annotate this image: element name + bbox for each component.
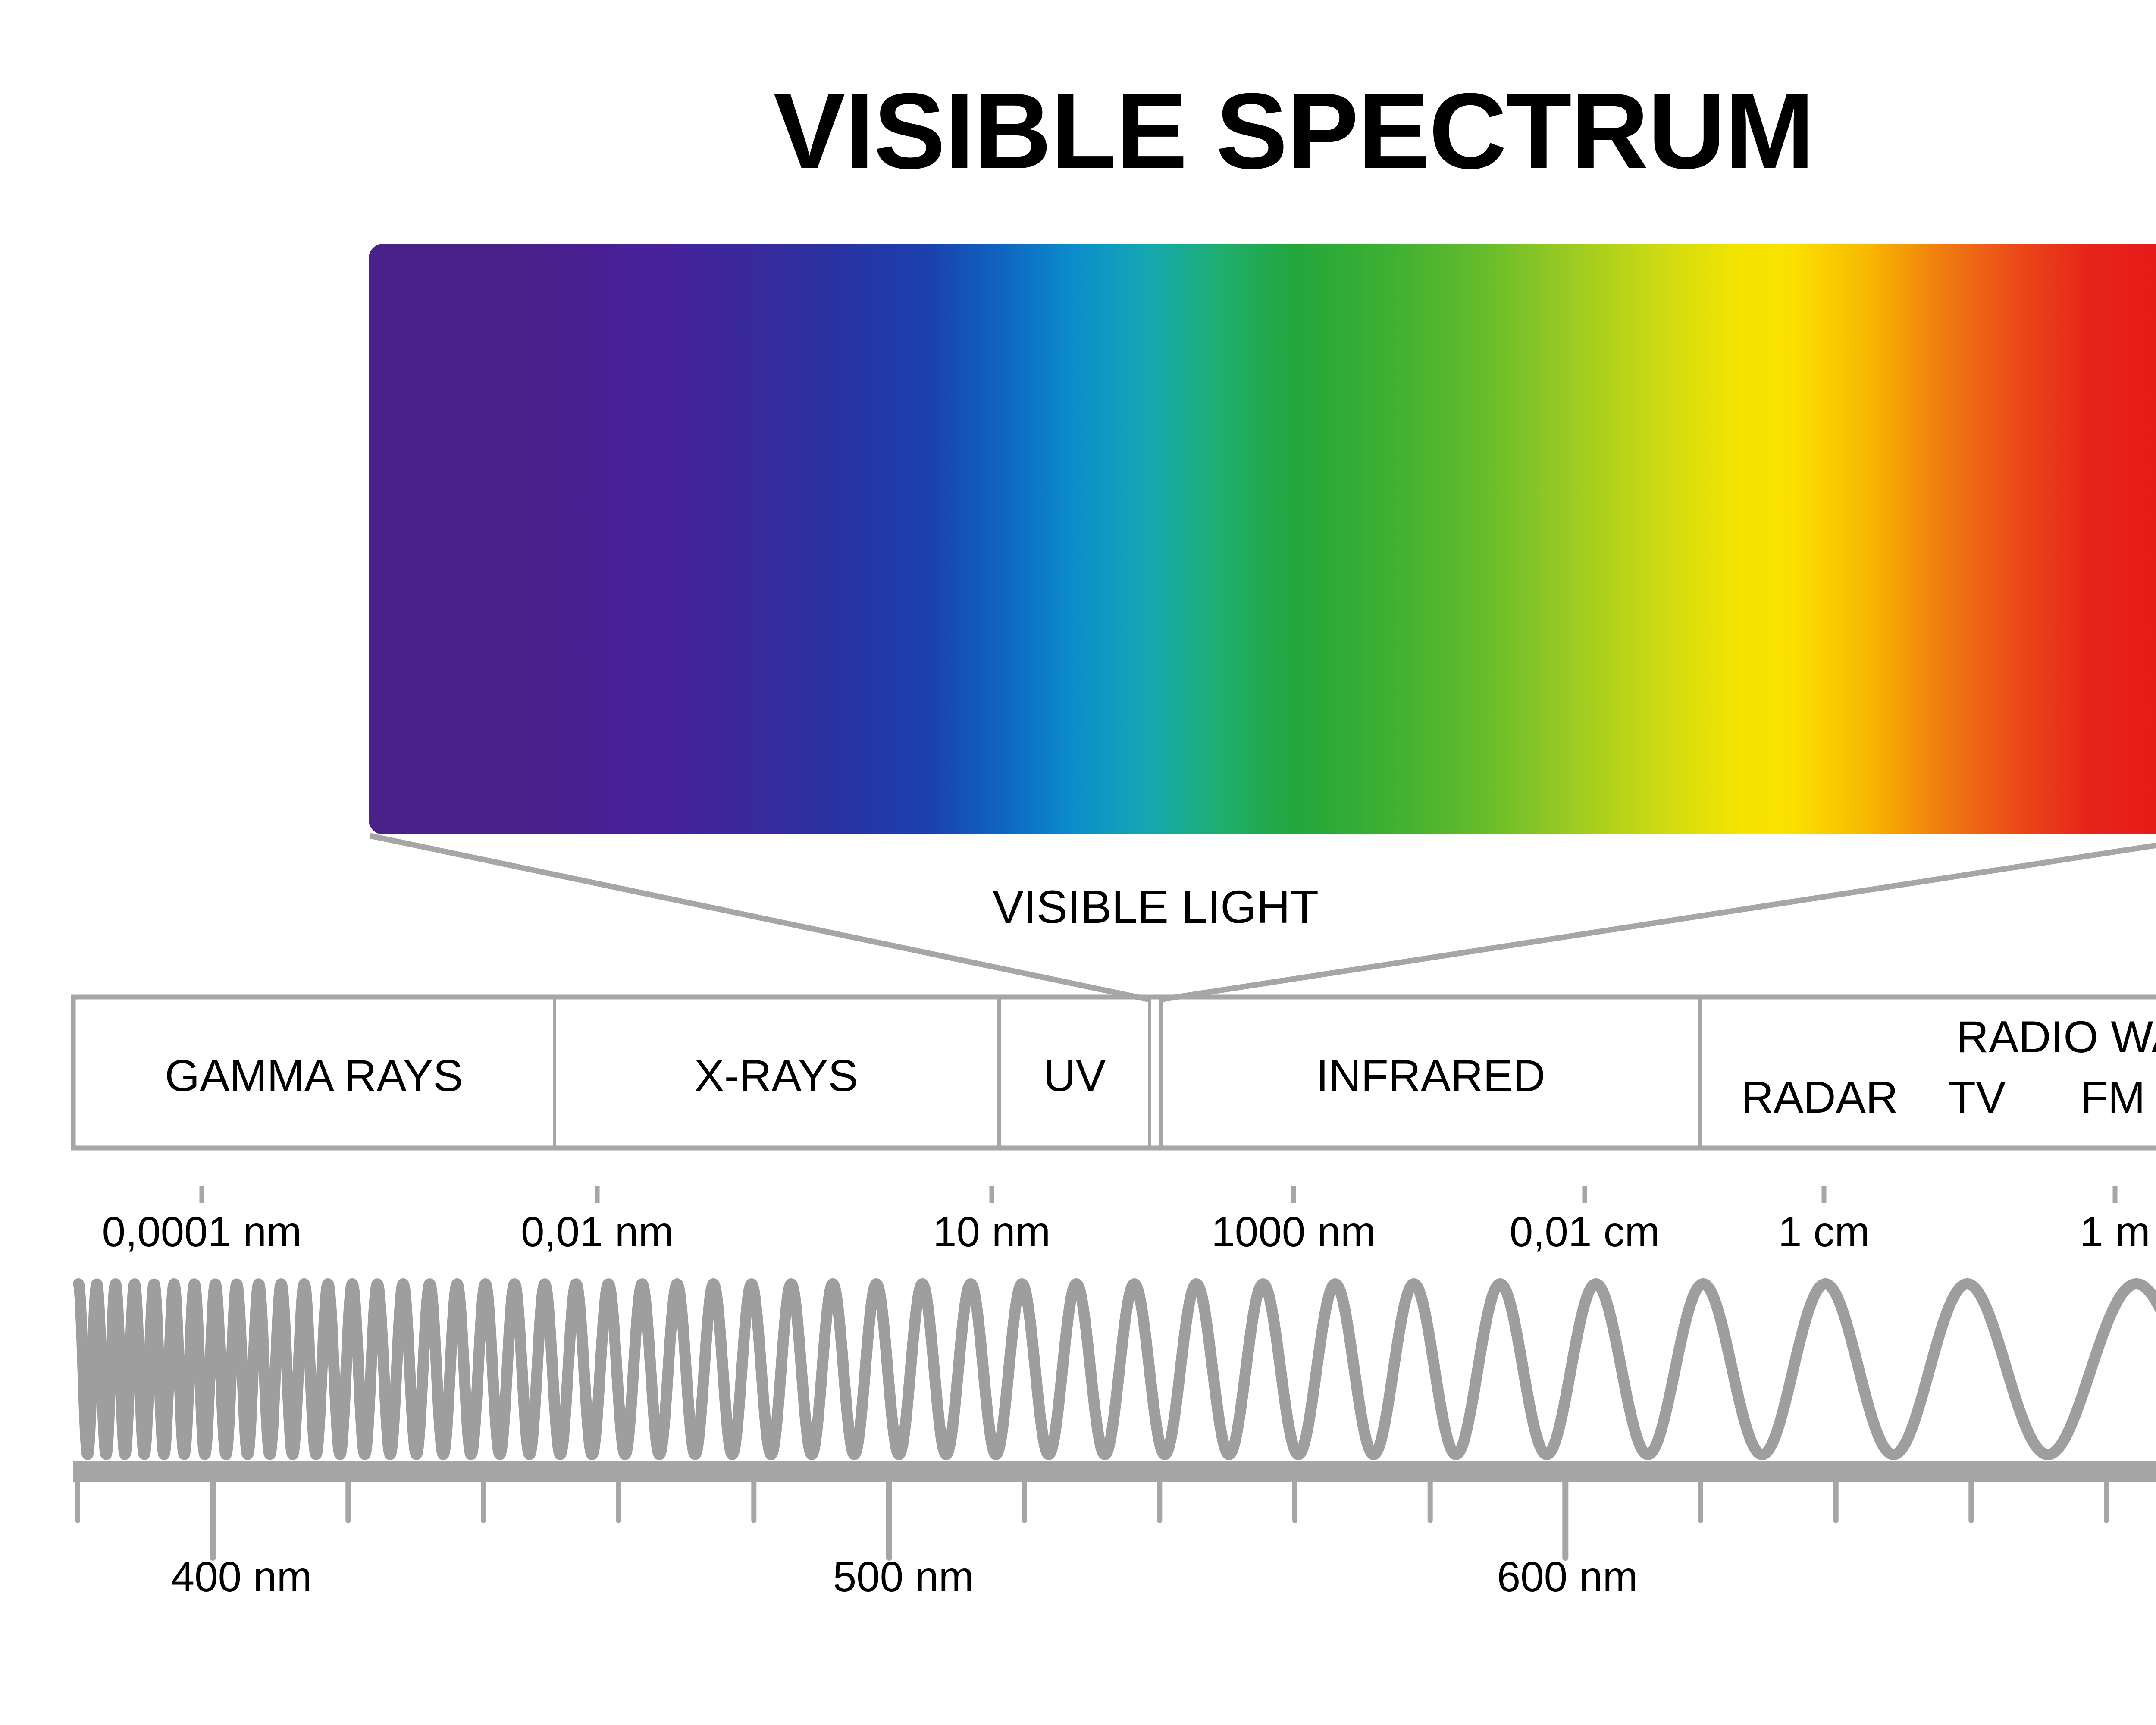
ruler-bar [73, 1461, 2156, 1482]
ruler-label-500-nm: 500 nm [833, 1553, 974, 1600]
em-band-label-infrared: INFRARED [1316, 1051, 1545, 1101]
ruler-label-600-nm: 600 nm [1497, 1553, 1638, 1600]
page-title: VISIBLE SPECTRUM [774, 71, 1814, 191]
scale-label-0-0001-nm: 0,0001 nm [102, 1208, 301, 1255]
em-band-label-uv: UV [1044, 1051, 1106, 1101]
diagram-canvas: VISIBLE SPECTRUM VISIBLE LIGHT GAMMA RAY… [0, 0, 2156, 1725]
scale-label-0-01-nm: 0,01 nm [521, 1208, 674, 1255]
scale-label-10-nm: 10 nm [933, 1208, 1050, 1255]
em-band-label-gamma-rays: GAMMA RAYS [165, 1051, 463, 1101]
ruler-label-400-nm: 400 nm [171, 1553, 312, 1600]
spectrum-diagram: VISIBLE SPECTRUM VISIBLE LIGHT GAMMA RAY… [0, 0, 2156, 1725]
visible-light-label: VISIBLE LIGHT [993, 881, 1319, 933]
scale-label-1000-nm: 1000 nm [1211, 1208, 1376, 1255]
radio-subband-label-radar: RADAR [1741, 1073, 1898, 1123]
em-band-label-radio-waves: RADIO WAVES [1956, 1012, 2156, 1062]
scale-label-0-01-cm: 0,01 cm [1510, 1208, 1660, 1255]
scale-label-1-cm: 1 cm [1778, 1208, 1870, 1255]
em-band-label-x-rays: X-RAYS [694, 1051, 858, 1101]
radio-subband-label-fm: FM [2081, 1073, 2145, 1123]
radio-subband-label-tv: TV [1949, 1073, 2006, 1123]
wavelength-sine-wave [78, 1284, 2156, 1455]
visible-spectrum-band [369, 244, 2156, 834]
scale-label-1-m: 1 m [2080, 1208, 2150, 1255]
ruler-tick-group [78, 1482, 2156, 1558]
